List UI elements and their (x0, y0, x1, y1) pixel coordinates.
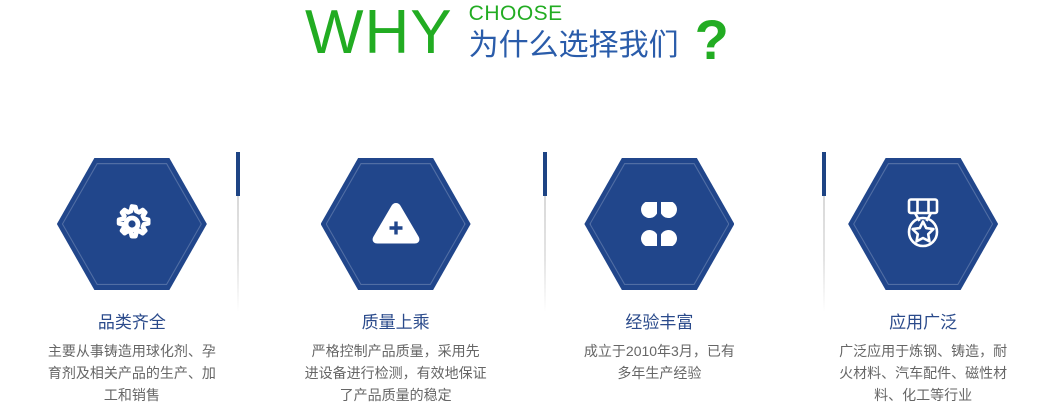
feature-card-2[interactable]: 质量上乘 严格控制产品质量，采用先 进设备进行检测，有效地保证 了产品质量的稳定 (264, 150, 528, 416)
feature-columns: 品类齐全 主要从事铸造用球化剂、孕 育剂及相关产品的生产、加 工和销售 质量上乘… (0, 150, 1055, 416)
section-heading: WHY CHOOSE 为什么选择我们 ? (0, 0, 1055, 95)
card-title: 经验丰富 (625, 312, 693, 334)
card-title: 质量上乘 (362, 312, 430, 334)
medal-star-icon (848, 158, 998, 290)
heading-question-mark: ? (695, 12, 729, 68)
why-choose-us-section: WHY CHOOSE 为什么选择我们 ? (0, 0, 1055, 416)
card-description: 成立于2010年3月，已有 多年生产经验 (584, 340, 735, 384)
heading-chinese-title: 为什么选择我们 (469, 28, 679, 64)
card-title: 品类齐全 (98, 312, 166, 334)
triangle-plus-icon (321, 158, 471, 290)
heading-why-text: WHY (305, 2, 453, 64)
card-description: 严格控制产品质量，采用先 进设备进行检测，有效地保证 了产品质量的稳定 (305, 340, 487, 406)
hexagon-badge (321, 158, 471, 290)
card-title: 应用广泛 (889, 312, 957, 334)
feature-card-4[interactable]: 应用广泛 广泛应用于炼钢、铸造，耐 火材料、汽车配件、磁性材 料、化工等行业 (791, 150, 1055, 416)
hexagon-badge (848, 158, 998, 290)
feature-card-3[interactable]: 经验丰富 成立于2010年3月，已有 多年生产经验 (528, 150, 792, 416)
heading-inner: WHY CHOOSE 为什么选择我们 ? (305, 0, 729, 68)
hexagon-badge (584, 158, 734, 290)
card-description: 广泛应用于炼钢、铸造，耐 火材料、汽车配件、磁性材 料、化工等行业 (839, 340, 1007, 406)
clover-icon (584, 158, 734, 290)
card-description: 主要从事铸造用球化剂、孕 育剂及相关产品的生产、加 工和销售 (48, 340, 216, 406)
gear-icon (57, 158, 207, 290)
heading-middle-block: CHOOSE 为什么选择我们 (469, 2, 679, 64)
hexagon-badge (57, 158, 207, 290)
feature-card-1[interactable]: 品类齐全 主要从事铸造用球化剂、孕 育剂及相关产品的生产、加 工和销售 (0, 150, 264, 416)
heading-choose-text: CHOOSE (469, 2, 679, 26)
